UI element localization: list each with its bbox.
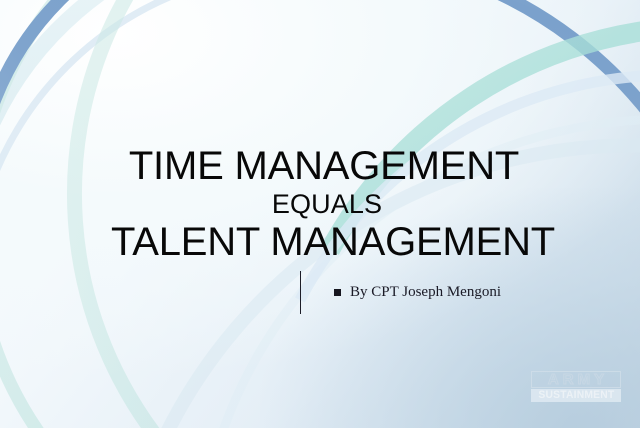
army-sustainment-logo: ARMY SUSTAINMENT: [531, 371, 621, 402]
byline-content: By CPT Joseph Mengoni: [301, 271, 501, 314]
byline: By CPT Joseph Mengoni: [300, 271, 501, 314]
title-line-3: TALENT MANAGEMENT: [0, 220, 640, 264]
logo-army-text: ARMY: [544, 372, 608, 387]
logo-sustainment-text: SUSTAINMENT: [538, 390, 614, 401]
title-line-1: TIME MANAGEMENT: [0, 144, 640, 188]
arc-blue-right: [200, 0, 640, 128]
slide-title: TIME MANAGEMENT EQUALS TALENT MANAGEMENT: [0, 144, 640, 264]
logo-sustainment-bar: SUSTAINMENT: [531, 389, 621, 402]
byline-author-text: By CPT Joseph Mengoni: [350, 284, 501, 301]
presentation-slide: TIME MANAGEMENT EQUALS TALENT MANAGEMENT…: [0, 0, 640, 428]
logo-army-box: ARMY: [531, 371, 621, 388]
square-bullet-icon: [334, 289, 341, 296]
title-line-2: EQUALS: [0, 188, 640, 220]
